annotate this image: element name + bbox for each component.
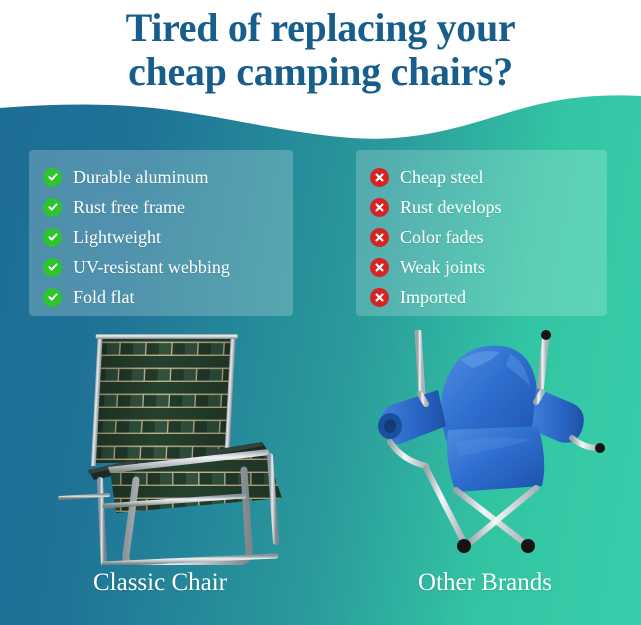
- x-circle-icon: [370, 288, 389, 307]
- list-item-label: Fold flat: [73, 287, 135, 307]
- other-brands-drawbacks-panel: Cheap steel Rust develops Color fades We…: [356, 150, 607, 316]
- classic-chair-benefits-panel: Durable aluminum Rust free frame Lightwe…: [29, 150, 293, 316]
- list-item-label: Imported: [400, 287, 466, 307]
- list-item-label: UV-resistant webbing: [73, 257, 230, 277]
- list-item: Fold flat: [43, 282, 283, 312]
- list-item-label: Rust free frame: [73, 197, 185, 217]
- check-circle-icon: [43, 228, 62, 247]
- infographic-root: Tired of replacing your cheap camping ch…: [0, 0, 641, 625]
- list-item-label: Cheap steel: [400, 167, 483, 187]
- list-item-label: Lightweight: [73, 227, 161, 247]
- check-circle-icon: [43, 288, 62, 307]
- check-circle-icon: [43, 258, 62, 277]
- classic-webbed-lawn-chair-photo: [10, 330, 310, 565]
- headline-line-2: cheap camping chairs?: [0, 50, 641, 94]
- classic-chair-caption: Classic Chair: [10, 568, 310, 598]
- x-circle-icon: [370, 258, 389, 277]
- x-circle-icon: [370, 228, 389, 247]
- list-item: Rust free frame: [43, 192, 283, 222]
- x-circle-icon: [370, 168, 389, 187]
- list-item: Imported: [370, 282, 597, 312]
- check-circle-icon: [43, 198, 62, 217]
- list-item: UV-resistant webbing: [43, 252, 283, 282]
- headline-line-1: Tired of replacing your: [126, 5, 516, 50]
- list-item-label: Durable aluminum: [73, 167, 208, 187]
- list-item-label: Color fades: [400, 227, 483, 247]
- other-brands-caption: Other Brands: [335, 568, 635, 598]
- list-item: Cheap steel: [370, 162, 597, 192]
- list-item-label: Rust develops: [400, 197, 502, 217]
- list-item-label: Weak joints: [400, 257, 485, 277]
- list-item: Color fades: [370, 222, 597, 252]
- x-circle-icon: [370, 198, 389, 217]
- list-item: Durable aluminum: [43, 162, 283, 192]
- list-item: Lightweight: [43, 222, 283, 252]
- list-item: Weak joints: [370, 252, 597, 282]
- page-title: Tired of replacing your cheap camping ch…: [0, 6, 641, 94]
- check-circle-icon: [43, 168, 62, 187]
- list-item: Rust develops: [370, 192, 597, 222]
- blue-fabric-folding-camp-chair-photo: [335, 330, 635, 565]
